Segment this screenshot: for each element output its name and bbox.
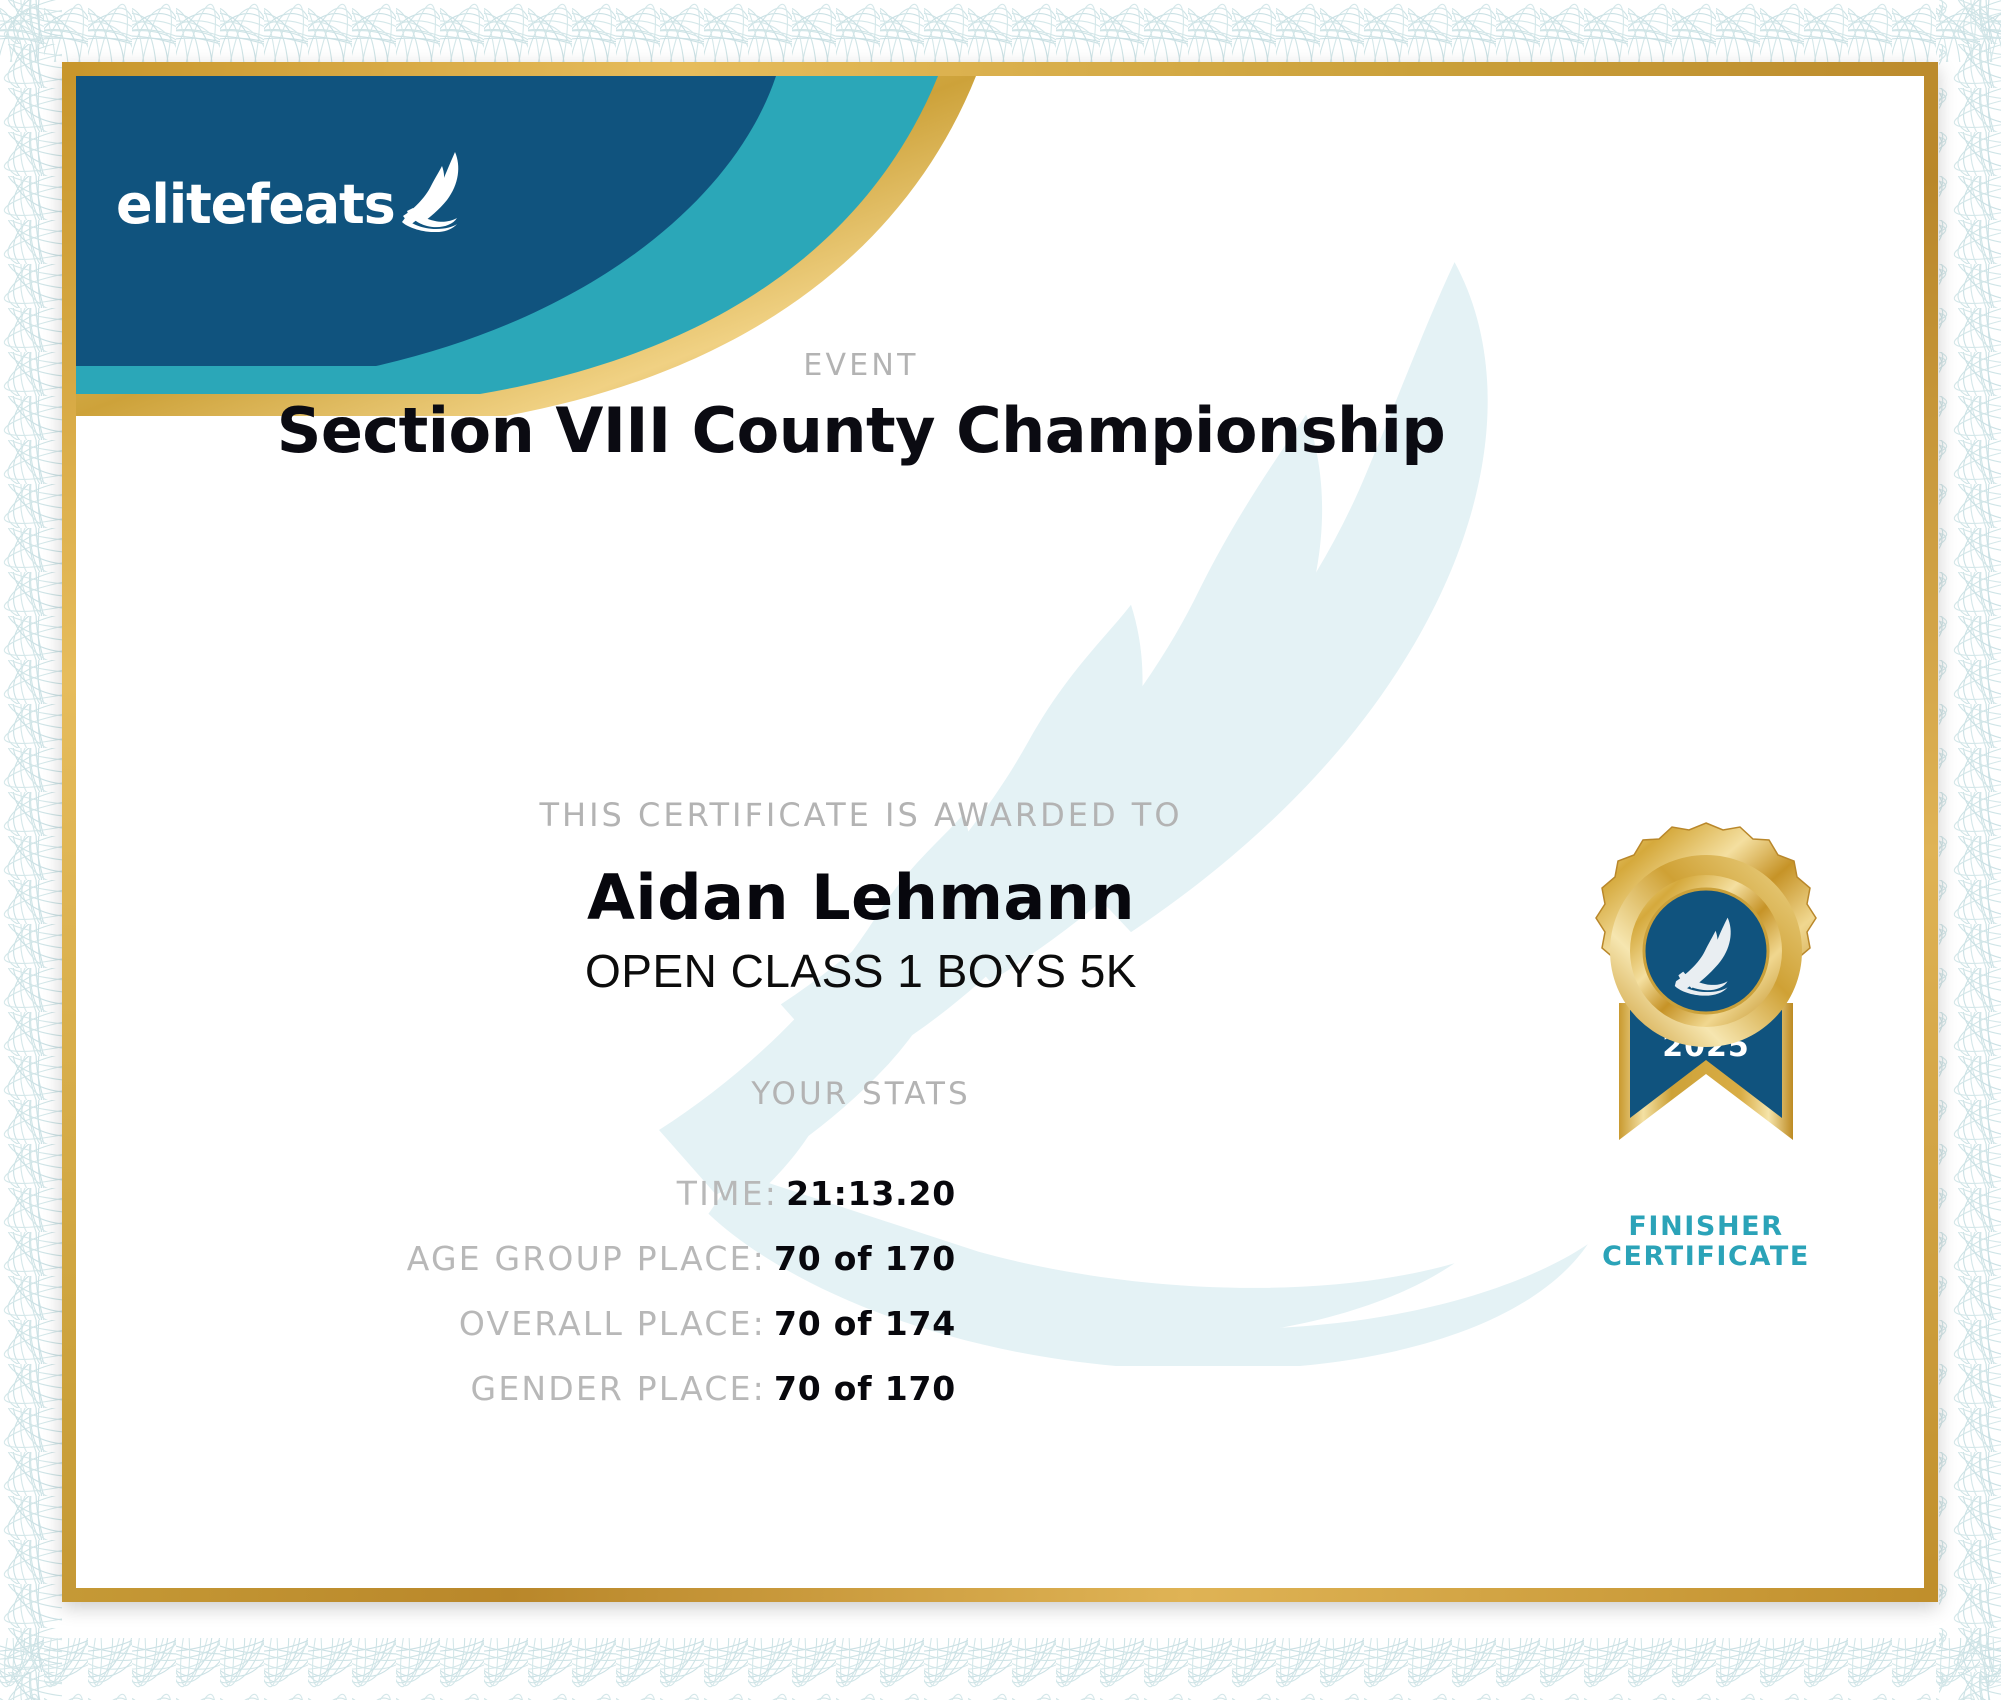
medal-caption-line1: FINISHER — [1556, 1212, 1856, 1242]
stat-value-age-group-place: 70 of 170 — [774, 1239, 956, 1278]
stat-key-overall-place: OVERALL PLACE: — [459, 1304, 766, 1343]
recipient-name: Aidan Lehmann — [76, 861, 1646, 934]
stat-row: OVERALL PLACE:70 of 174 — [76, 1304, 1646, 1343]
event-title: Section VIII County Championship — [76, 394, 1646, 467]
division-label: OPEN CLASS 1 BOYS 5K — [76, 944, 1646, 998]
stat-value-gender-place: 70 of 170 — [774, 1369, 956, 1408]
stat-row: GENDER PLACE:70 of 170 — [76, 1369, 1646, 1408]
awarded-to-label: THIS CERTIFICATE IS AWARDED TO — [76, 796, 1646, 834]
stats-heading: YOUR STATS — [76, 1076, 1646, 1112]
stat-key-age-group-place: AGE GROUP PLACE: — [407, 1239, 766, 1278]
stat-key-time: TIME: — [677, 1174, 778, 1213]
finisher-medal-badge: 2025 FINISHER CERTIFICAT — [1556, 788, 1856, 1272]
stat-value-overall-place: 70 of 174 — [774, 1304, 956, 1343]
certificate-frame: elitefeats EVENT Section VIII County Cha… — [62, 62, 1938, 1602]
medal-caption: FINISHER CERTIFICATE — [1556, 1212, 1856, 1272]
winged-foot-icon — [399, 148, 471, 232]
stat-key-gender-place: GENDER PLACE: — [471, 1369, 766, 1408]
stats-list: TIME:21:13.20 AGE GROUP PLACE:70 of 170 … — [76, 1174, 1646, 1434]
event-label: EVENT — [76, 348, 1646, 383]
stat-row: TIME:21:13.20 — [76, 1174, 1646, 1213]
medal-caption-line2: CERTIFICATE — [1556, 1242, 1856, 1272]
brand-logo-text: elitefeats — [116, 178, 395, 232]
medal-icon: 2025 — [1567, 788, 1845, 1208]
certificate-page: elitefeats EVENT Section VIII County Cha… — [0, 0, 2001, 1700]
stat-value-time: 21:13.20 — [786, 1174, 956, 1213]
stat-row: AGE GROUP PLACE:70 of 170 — [76, 1239, 1646, 1278]
brand-logo: elitefeats — [116, 148, 471, 232]
